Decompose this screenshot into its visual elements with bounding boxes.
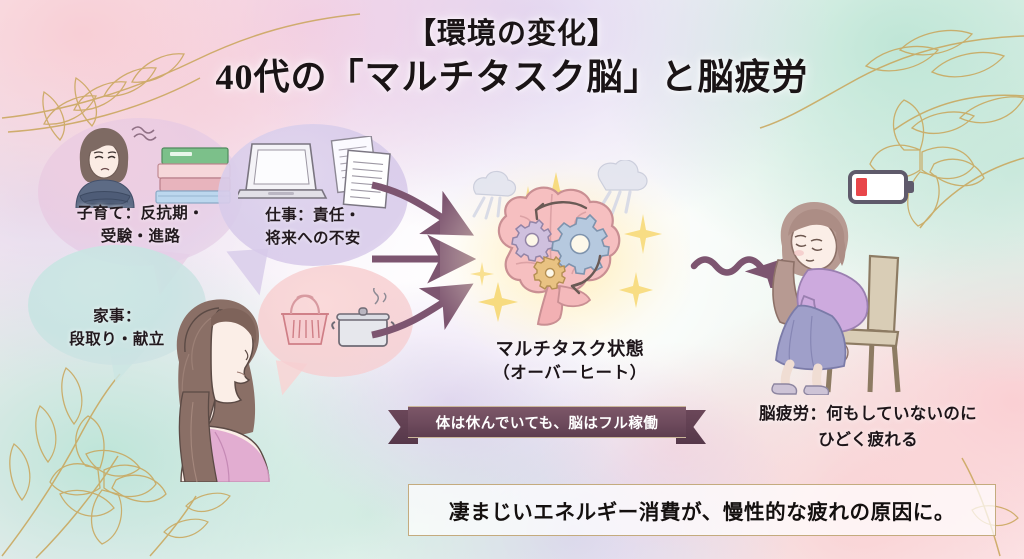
bubble-kosodate-line1: 子育て：反抗期・ bbox=[77, 203, 204, 225]
brain-label-main: マルチタスク状態 bbox=[430, 336, 710, 362]
fatigue-caption: 脳疲労：何もしていないのに ひどく疲れる bbox=[722, 402, 1014, 453]
bubble-shigoto-line2: 将来への不安 bbox=[265, 228, 360, 250]
bottom-summary-box: 凄まじいエネルギー消費が、慢性的な疲れの原因に。 bbox=[408, 484, 996, 536]
title-line-2: 40代の「マルチタスク脳」と脳疲労 bbox=[0, 54, 1024, 101]
ribbon-text: 体は休んでいても、脳はフル稼働 bbox=[436, 412, 659, 433]
bubble-kosodate-text: 子育て：反抗期・ 受験・進路 bbox=[77, 203, 204, 248]
bottom-summary-text: 凄まじいエネルギー消費が、慢性的な疲れの原因に。 bbox=[449, 495, 955, 525]
bubble-kosodate-line2: 受験・進路 bbox=[77, 226, 204, 248]
page-title: 【環境の変化】 40代の「マルチタスク脳」と脳疲労 bbox=[0, 16, 1024, 101]
teen-girl-and-books-icon bbox=[58, 118, 238, 208]
bubble-kaji-line2: 段取り・献立 bbox=[69, 329, 164, 351]
brain-label-sub: （オーバーヒート） bbox=[430, 362, 710, 386]
brain-cluster bbox=[440, 160, 690, 350]
fatigue-caption-line2: ひどく疲れる bbox=[722, 428, 1014, 454]
overheating-brain-with-gears-icon bbox=[440, 160, 690, 350]
fatigue-caption-line1: 脳疲労：何もしていないのに bbox=[759, 405, 977, 423]
woman-profile-silhouette-icon bbox=[163, 292, 293, 482]
bubble-shigoto-line1: 仕事：責任・ bbox=[265, 205, 360, 227]
brain-state-label: マルチタスク状態 （オーバーヒート） bbox=[430, 336, 710, 386]
title-line-1: 【環境の変化】 bbox=[0, 16, 1024, 52]
ribbon-banner: 体は休んでいても、脳はフル稼働 bbox=[388, 406, 706, 436]
bubble-shigoto-text: 仕事：責任・ 将来への不安 bbox=[265, 205, 360, 250]
ribbon-body: 体は休んでいても、脳はフル稼働 bbox=[408, 406, 686, 438]
bubble-kaji-text: 家事： 段取り・献立 bbox=[69, 306, 164, 351]
infographic-canvas: 【環境の変化】 40代の「マルチタスク脳」と脳疲労 子育て：反抗期・ 受験・進路 bbox=[0, 0, 1024, 559]
bubble-kaji-line1: 家事： bbox=[69, 306, 164, 328]
exhausted-woman-on-chair-icon bbox=[752, 200, 972, 395]
